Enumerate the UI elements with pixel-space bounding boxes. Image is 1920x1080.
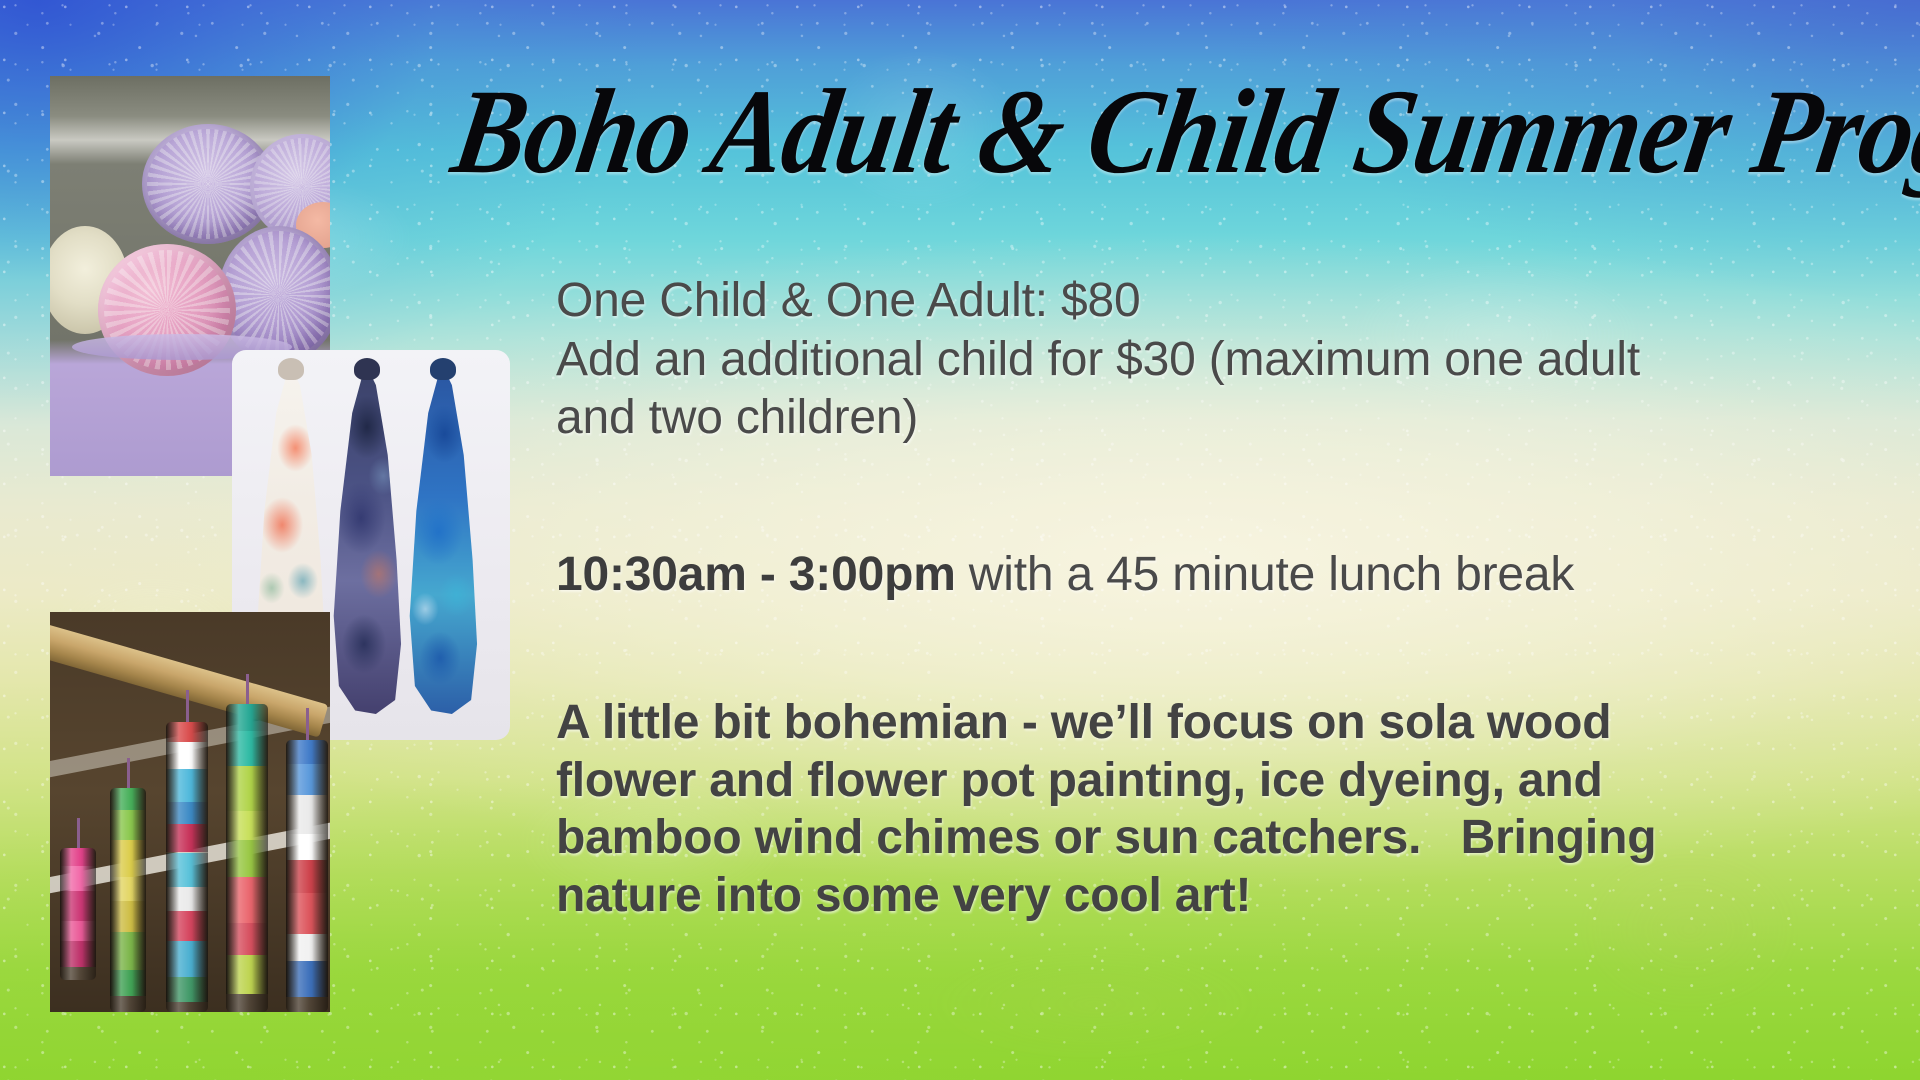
bamboo-support-pole (50, 617, 328, 738)
description-line-1: A little bit bohemian - we’ll focus on s… (556, 694, 1866, 752)
pricing-line-2: Add an additional child for $30 (maximum… (556, 331, 1866, 390)
flyer-title: Boho Adult & Child Summer Program (445, 71, 1885, 194)
schedule-time: 10:30am - 3:00pm (556, 548, 956, 601)
description-line-4: nature into some very cool art! (556, 867, 1866, 925)
ice-dye-cloth-blue (406, 364, 480, 714)
description-line-3: bamboo wind chimes or sun catchers. Brin… (556, 809, 1866, 867)
schedule-paragraph: 10:30am - 3:00pm with a 45 minute lunch … (556, 546, 1866, 605)
description-line-2: flower and flower pot painting, ice dyei… (556, 752, 1866, 810)
chime-cord-2 (127, 758, 130, 792)
chime-tube-banded (166, 722, 208, 1012)
chime-tube-pink (60, 848, 96, 980)
chime-cord-3 (186, 690, 189, 726)
cloth-knot-left (278, 358, 304, 380)
pricing-paragraph: One Child & One Adult: $80 Add an additi… (556, 272, 1866, 448)
chime-tube-teal-lime (226, 704, 268, 1012)
flyer-body: One Child & One Adult: $80 Add an additi… (556, 272, 1866, 925)
chime-cord-1 (77, 818, 80, 852)
chime-cord-4 (246, 674, 249, 708)
description-paragraph: A little bit bohemian - we’ll focus on s… (556, 694, 1866, 924)
pricing-line-3: and two children) (556, 389, 1866, 448)
chime-tube-green-diamond (110, 788, 146, 1012)
flyer-canvas: Boho Adult & Child Summer Program One Ch… (0, 0, 1920, 1080)
chime-cord-5 (306, 708, 309, 744)
ice-dye-cloth-navy (330, 364, 404, 714)
chime-tube-blue-red (286, 740, 328, 1012)
cloth-knot-right (430, 358, 456, 380)
schedule-detail: with a 45 minute lunch break (956, 548, 1575, 601)
cloth-knot-middle (354, 358, 380, 380)
photo-bamboo-wind-chimes (50, 612, 330, 1012)
pricing-line-1: One Child & One Adult: $80 (556, 272, 1866, 331)
